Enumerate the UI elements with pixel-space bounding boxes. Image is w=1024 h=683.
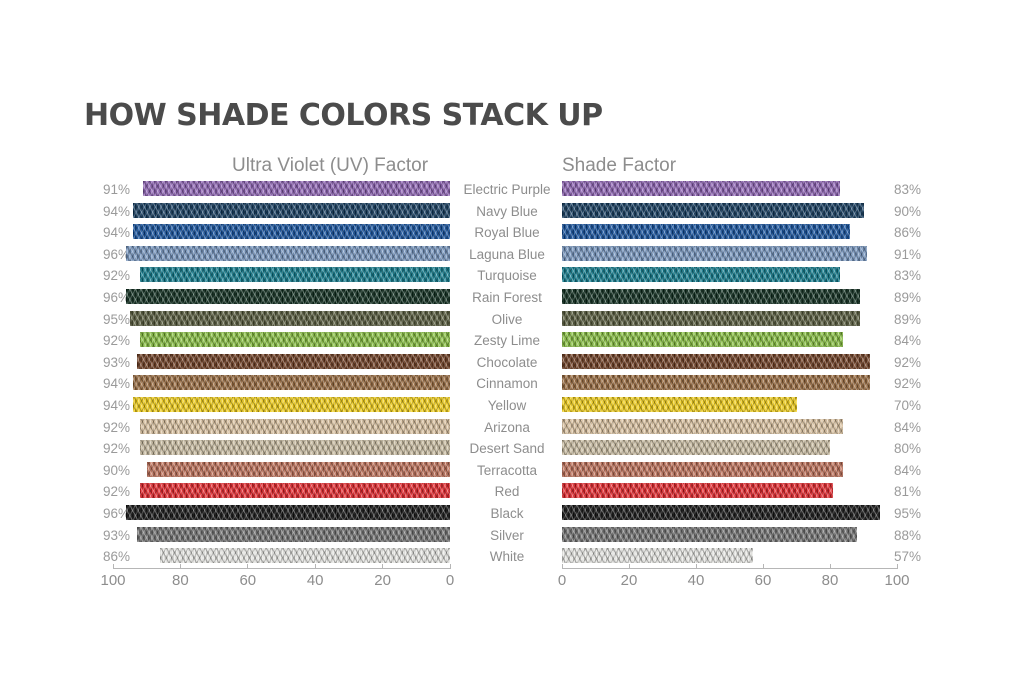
table-row: 94%Navy Blue90% bbox=[0, 202, 1024, 224]
table-row: 96%Laguna Blue91% bbox=[0, 245, 1024, 267]
uv-bar-track bbox=[113, 527, 450, 542]
color-name-label: Zesty Lime bbox=[452, 333, 562, 348]
axis-line bbox=[562, 568, 897, 569]
uv-bar-track bbox=[113, 397, 450, 412]
color-name-label: Turquoise bbox=[452, 268, 562, 283]
color-name-label: Yellow bbox=[452, 398, 562, 413]
shade-bar bbox=[562, 440, 830, 455]
shade-bar bbox=[562, 311, 860, 326]
shade-bar bbox=[562, 462, 843, 477]
uv-bar bbox=[137, 527, 450, 542]
shade-percent-label: 91% bbox=[894, 247, 940, 262]
uv-factor-header: Ultra Violet (UV) Factor bbox=[232, 155, 428, 177]
color-name-label: Cinnamon bbox=[452, 376, 562, 391]
axis-tick-label: 80 bbox=[172, 572, 189, 589]
table-row: 93%Chocolate92% bbox=[0, 353, 1024, 375]
shade-bar-track bbox=[562, 289, 897, 304]
axis-tick-label: 80 bbox=[822, 572, 839, 589]
uv-bar-track bbox=[113, 548, 450, 563]
shade-factor-header: Shade Factor bbox=[562, 155, 676, 177]
table-row: 92%Desert Sand80% bbox=[0, 439, 1024, 461]
uv-bar-track bbox=[113, 289, 450, 304]
shade-bar bbox=[562, 483, 833, 498]
shade-bar-track bbox=[562, 505, 897, 520]
uv-bar-track bbox=[113, 419, 450, 434]
shade-percent-label: 84% bbox=[894, 333, 940, 348]
axis-tick bbox=[382, 564, 383, 569]
shade-bar-track bbox=[562, 354, 897, 369]
table-row: 95%Olive89% bbox=[0, 310, 1024, 332]
uv-bar-track bbox=[113, 267, 450, 282]
uv-bar-track bbox=[113, 375, 450, 390]
shade-bar bbox=[562, 397, 797, 412]
table-row: 94%Cinnamon92% bbox=[0, 374, 1024, 396]
shade-percent-label: 92% bbox=[894, 355, 940, 370]
color-name-label: Chocolate bbox=[452, 355, 562, 370]
color-name-label: Terracotta bbox=[452, 463, 562, 478]
axis-tick bbox=[247, 564, 248, 569]
shade-bar-track bbox=[562, 440, 897, 455]
table-row: 92%Red81% bbox=[0, 482, 1024, 504]
axis-tick-label: 40 bbox=[688, 572, 705, 589]
axis-tick-label: 100 bbox=[100, 572, 125, 589]
uv-bar bbox=[140, 332, 450, 347]
shade-bar bbox=[562, 354, 870, 369]
uv-bar-track bbox=[113, 246, 450, 261]
shade-bar-track bbox=[562, 246, 897, 261]
axis-line bbox=[113, 568, 450, 569]
shade-percent-label: 86% bbox=[894, 225, 940, 240]
uv-bar-track bbox=[113, 440, 450, 455]
uv-bar bbox=[133, 375, 450, 390]
axis-tick bbox=[897, 564, 898, 569]
uv-axis: 100806040200 bbox=[113, 568, 450, 590]
shade-bar bbox=[562, 246, 867, 261]
shade-bar bbox=[562, 203, 864, 218]
axis-tick-label: 0 bbox=[446, 572, 454, 589]
shade-bar-track bbox=[562, 527, 897, 542]
axis-tick-label: 20 bbox=[621, 572, 638, 589]
shade-bar-track bbox=[562, 397, 897, 412]
axis-tick-label: 0 bbox=[558, 572, 566, 589]
shade-axis: 020406080100 bbox=[562, 568, 897, 590]
shade-bar bbox=[562, 224, 850, 239]
table-row: 96%Rain Forest89% bbox=[0, 288, 1024, 310]
table-row: 91%Electric Purple83% bbox=[0, 180, 1024, 202]
shade-percent-label: 84% bbox=[894, 420, 940, 435]
color-name-label: Red bbox=[452, 484, 562, 499]
shade-percent-label: 81% bbox=[894, 484, 940, 499]
uv-bar bbox=[140, 419, 450, 434]
uv-bar bbox=[133, 203, 450, 218]
shade-bar bbox=[562, 289, 860, 304]
shade-percent-label: 89% bbox=[894, 290, 940, 305]
uv-bar bbox=[147, 462, 450, 477]
page-title: HOW SHADE COLORS STACK UP bbox=[84, 98, 603, 133]
color-name-label: White bbox=[452, 549, 562, 564]
axis-tick-label: 100 bbox=[884, 572, 909, 589]
shade-bar bbox=[562, 332, 843, 347]
uv-bar-track bbox=[113, 311, 450, 326]
shade-bar bbox=[562, 419, 843, 434]
shade-bar-track bbox=[562, 181, 897, 196]
axis-tick bbox=[562, 564, 563, 569]
shade-bar bbox=[562, 267, 840, 282]
shade-bar-track bbox=[562, 332, 897, 347]
shade-percent-label: 83% bbox=[894, 182, 940, 197]
axis-tick-label: 20 bbox=[374, 572, 391, 589]
shade-percent-label: 92% bbox=[894, 376, 940, 391]
color-name-label: Black bbox=[452, 506, 562, 521]
uv-bar bbox=[137, 354, 450, 369]
uv-bar-track bbox=[113, 483, 450, 498]
uv-bar bbox=[140, 440, 450, 455]
axis-tick bbox=[113, 564, 114, 569]
uv-bar bbox=[133, 397, 450, 412]
shade-bar bbox=[562, 505, 880, 520]
axis-tick-label: 60 bbox=[239, 572, 256, 589]
shade-percent-label: 84% bbox=[894, 463, 940, 478]
shade-percent-label: 95% bbox=[894, 506, 940, 521]
uv-bar bbox=[133, 224, 450, 239]
axis-tick-label: 40 bbox=[307, 572, 324, 589]
chart-rows: 91%Electric Purple83%94%Navy Blue90%94%R… bbox=[0, 180, 1024, 569]
color-name-label: Desert Sand bbox=[452, 441, 562, 456]
table-row: 94%Royal Blue86% bbox=[0, 223, 1024, 245]
axis-tick-label: 60 bbox=[755, 572, 772, 589]
uv-bar bbox=[126, 289, 450, 304]
shade-bar-track bbox=[562, 267, 897, 282]
table-row: 92%Arizona84% bbox=[0, 418, 1024, 440]
color-name-label: Navy Blue bbox=[452, 204, 562, 219]
uv-bar-track bbox=[113, 354, 450, 369]
shade-bar-track bbox=[562, 462, 897, 477]
axis-tick bbox=[315, 564, 316, 569]
shade-percent-label: 80% bbox=[894, 441, 940, 456]
axis-tick bbox=[450, 564, 451, 569]
shade-percent-label: 57% bbox=[894, 549, 940, 564]
shade-percent-label: 70% bbox=[894, 398, 940, 413]
table-row: 94%Yellow70% bbox=[0, 396, 1024, 418]
axis-tick bbox=[696, 564, 697, 569]
uv-bar bbox=[126, 246, 450, 261]
shade-bar-track bbox=[562, 419, 897, 434]
uv-bar bbox=[140, 483, 450, 498]
shade-bar bbox=[562, 375, 870, 390]
color-name-label: Silver bbox=[452, 528, 562, 543]
uv-bar bbox=[160, 548, 450, 563]
uv-bar bbox=[126, 505, 450, 520]
shade-percent-label: 83% bbox=[894, 268, 940, 283]
table-row: 92%Turquoise83% bbox=[0, 266, 1024, 288]
color-name-label: Olive bbox=[452, 312, 562, 327]
shade-bar bbox=[562, 527, 857, 542]
shade-bar-track bbox=[562, 548, 897, 563]
shade-bar-track bbox=[562, 483, 897, 498]
color-name-label: Laguna Blue bbox=[452, 247, 562, 262]
shade-bar-track bbox=[562, 311, 897, 326]
axis-tick bbox=[629, 564, 630, 569]
uv-bar-track bbox=[113, 203, 450, 218]
color-name-label: Arizona bbox=[452, 420, 562, 435]
shade-percent-label: 90% bbox=[894, 204, 940, 219]
shade-bar bbox=[562, 548, 753, 563]
uv-bar-track bbox=[113, 332, 450, 347]
shade-bar-track bbox=[562, 375, 897, 390]
uv-bar bbox=[143, 181, 450, 196]
table-row: 96%Black95% bbox=[0, 504, 1024, 526]
table-row: 93%Silver88% bbox=[0, 526, 1024, 548]
uv-bar-track bbox=[113, 462, 450, 477]
uv-bar bbox=[140, 267, 450, 282]
chart-container: HOW SHADE COLORS STACK UP Ultra Violet (… bbox=[0, 0, 1024, 683]
axis-tick bbox=[763, 564, 764, 569]
shade-bar bbox=[562, 181, 840, 196]
uv-bar bbox=[130, 311, 450, 326]
uv-bar-track bbox=[113, 505, 450, 520]
shade-bar-track bbox=[562, 224, 897, 239]
table-row: 86%White57% bbox=[0, 547, 1024, 569]
axis-tick bbox=[830, 564, 831, 569]
color-name-label: Electric Purple bbox=[452, 182, 562, 197]
color-name-label: Royal Blue bbox=[452, 225, 562, 240]
shade-percent-label: 88% bbox=[894, 528, 940, 543]
uv-bar-track bbox=[113, 224, 450, 239]
color-name-label: Rain Forest bbox=[452, 290, 562, 305]
shade-bar-track bbox=[562, 203, 897, 218]
table-row: 92%Zesty Lime84% bbox=[0, 331, 1024, 353]
axis-tick bbox=[180, 564, 181, 569]
table-row: 90%Terracotta84% bbox=[0, 461, 1024, 483]
shade-percent-label: 89% bbox=[894, 312, 940, 327]
uv-bar-track bbox=[113, 181, 450, 196]
